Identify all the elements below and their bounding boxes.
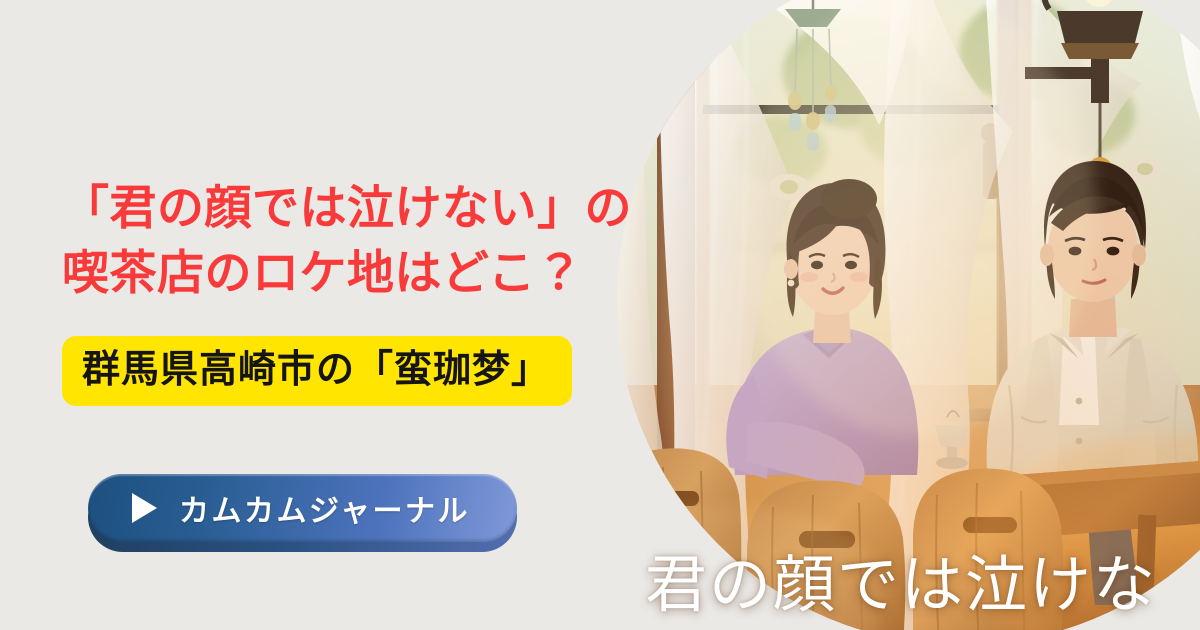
page-title: 「君の顔では泣けない」の 喫茶店のロケ地はどこ？ [62, 176, 632, 306]
cafe-photo [617, 0, 1200, 630]
cta-face[interactable]: カムカムジャーナル [88, 474, 517, 542]
play-triangle-icon [132, 493, 157, 523]
thumbnail-canvas: 君の顔では泣けな 「君の顔では泣けない」の 喫茶店のロケ地はどこ？ 群馬県高崎市… [0, 0, 1200, 630]
cafe-photo-illustration [617, 0, 1200, 630]
headline-line-2: 喫茶店のロケ地はどこ？ [62, 241, 632, 306]
answer-highlight-badge: 群馬県高崎市の「蛮珈梦」 [62, 336, 572, 406]
headline-line-1: 「君の顔では泣けない」の [62, 176, 632, 241]
brand-cta-button[interactable]: カムカムジャーナル [88, 474, 517, 546]
cta-label: カムカムジャーナル [179, 486, 470, 530]
answer-highlight-wrap: 群馬県高崎市の「蛮珈梦」 [62, 336, 572, 406]
